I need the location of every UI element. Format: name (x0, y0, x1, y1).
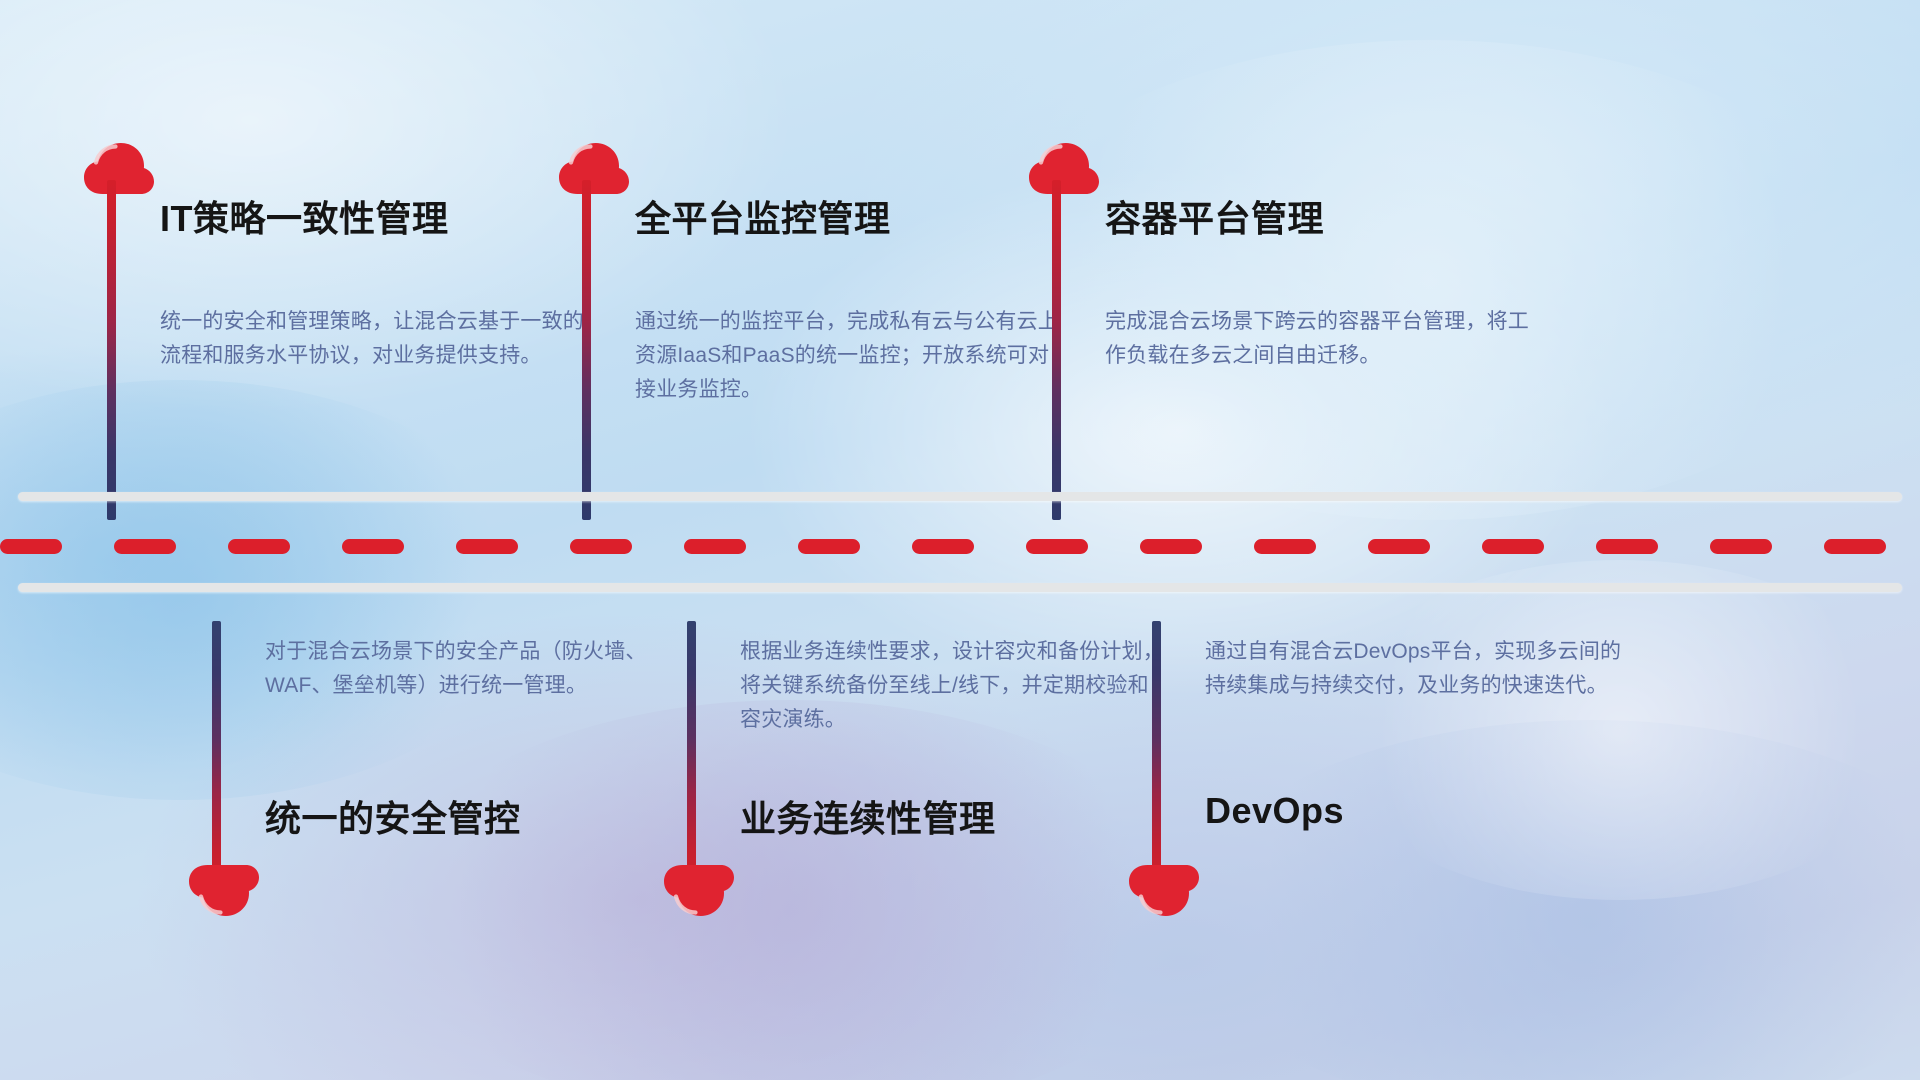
dash-segment (1140, 539, 1202, 554)
background-haze-bottom-right (1180, 720, 1920, 1080)
dash-segment (912, 539, 974, 554)
infographic-canvas: IT策略一致性管理 统一的安全和管理策略，让混合云基于一致的流程和服务水平协议，… (0, 0, 1920, 1080)
cloud-icon (82, 140, 156, 196)
dash-segment (228, 539, 290, 554)
connector-line (1052, 180, 1061, 520)
feature-title: DevOps (1205, 790, 1344, 832)
feature-description: 通过统一的监控平台，完成私有云与公有云上资源IaaS和PaaS的统一监控；开放系… (635, 305, 1065, 407)
dash-segment (570, 539, 632, 554)
dash-segment (1254, 539, 1316, 554)
feature-description: 通过自有混合云DevOps平台，实现多云间的持续集成与持续交付，及业务的快速迭代… (1205, 635, 1635, 703)
dash-segment (684, 539, 746, 554)
dash-segment (1368, 539, 1430, 554)
dash-segment (0, 539, 62, 554)
cloud-icon (1127, 863, 1201, 919)
feature-description: 完成混合云场景下跨云的容器平台管理，将工作负载在多云之间自由迁移。 (1105, 305, 1535, 373)
feature-title: 容器平台管理 (1105, 190, 1324, 242)
divider-rule-upper (18, 492, 1902, 501)
cloud-icon (557, 140, 631, 196)
dash-segment (1026, 539, 1088, 554)
cloud-icon (187, 863, 261, 919)
feature-title: 统一的安全管控 (265, 790, 521, 842)
dashed-separator (0, 538, 1920, 554)
feature-description: 根据业务连续性要求，设计容灾和备份计划，将关键系统备份至线上/线下，并定期校验和… (740, 635, 1170, 737)
dash-segment (342, 539, 404, 554)
dash-segment (1824, 539, 1886, 554)
dash-segment (1596, 539, 1658, 554)
feature-description: 统一的安全和管理策略，让混合云基于一致的流程和服务水平协议，对业务提供支持。 (160, 305, 590, 373)
connector-line (212, 621, 221, 889)
background-haze-mid-right (1320, 560, 1920, 900)
dash-segment (1482, 539, 1544, 554)
dash-segment (114, 539, 176, 554)
connector-line (107, 180, 116, 520)
connector-line (687, 621, 696, 889)
feature-title: IT策略一致性管理 (160, 190, 449, 242)
dash-segment (456, 539, 518, 554)
cloud-icon (1027, 140, 1101, 196)
dash-segment (1710, 539, 1772, 554)
connector-line (582, 180, 591, 520)
background-haze-bottom-center (380, 700, 1200, 1080)
feature-title: 全平台监控管理 (635, 190, 891, 242)
cloud-icon (662, 863, 736, 919)
feature-description: 对于混合云场景下的安全产品（防火墙、WAF、堡垒机等）进行统一管理。 (265, 635, 695, 703)
connector-line (1152, 621, 1161, 889)
background-haze-top-right (980, 40, 1880, 520)
divider-rule-lower (18, 583, 1902, 592)
feature-title: 业务连续性管理 (740, 790, 996, 842)
dash-segment (798, 539, 860, 554)
